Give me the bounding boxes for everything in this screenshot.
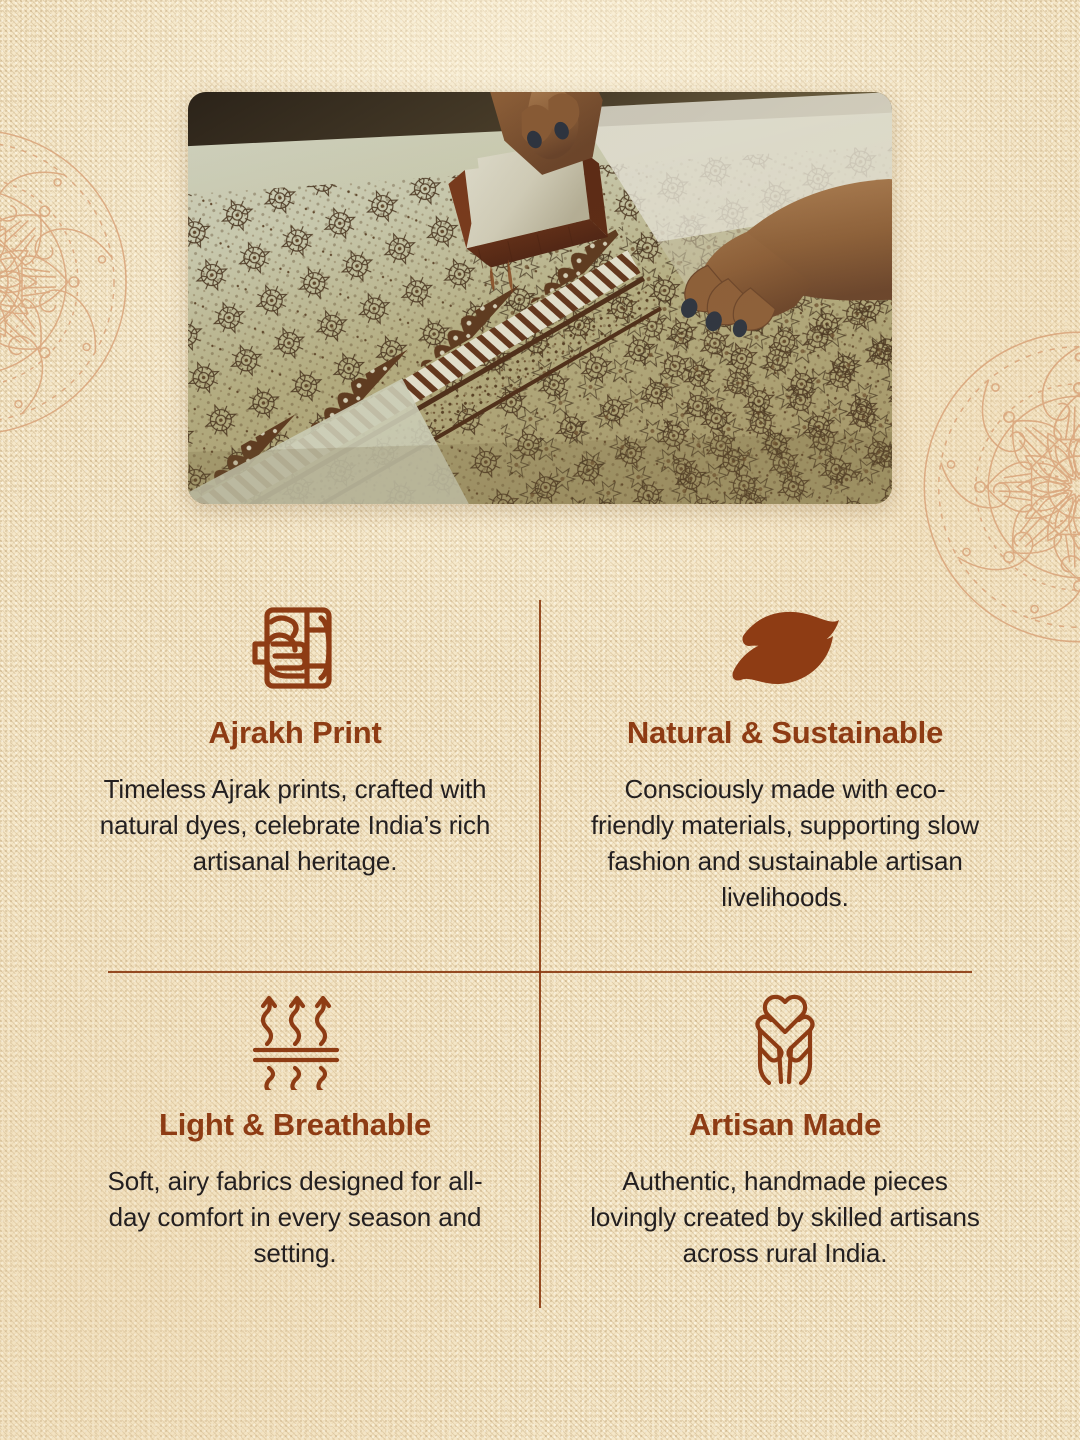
hero-image xyxy=(188,92,892,504)
feature-title: Ajrakh Print xyxy=(64,716,526,750)
hands-heart-icon xyxy=(554,988,1016,1092)
feature-body: Timeless Ajrak prints, crafted with natu… xyxy=(95,772,495,880)
poster-canvas: Ajrakh Print Timeless Ajrak prints, craf… xyxy=(0,0,1080,1440)
feature-card-light-breathable: Light & Breathable Soft, airy fabrics de… xyxy=(64,988,526,1272)
grid-horizontal-divider xyxy=(108,971,972,973)
grid-vertical-divider xyxy=(539,600,541,1308)
breathable-airflow-icon xyxy=(64,988,526,1092)
ajrakh-block-printing-photo xyxy=(188,92,892,504)
leaf-icon xyxy=(554,596,1016,700)
feature-body: Soft, airy fabrics designed for all-day … xyxy=(98,1164,492,1272)
mandala-left-icon xyxy=(0,122,134,442)
feature-grid: Ajrakh Print Timeless Ajrak prints, craf… xyxy=(64,596,1016,1312)
feature-card-natural-sustainable: Natural & Sustainable Consciously made w… xyxy=(554,596,1016,916)
feature-body: Authentic, handmade pieces lovingly crea… xyxy=(585,1164,985,1272)
block-print-hand-icon xyxy=(64,596,526,700)
feature-card-ajrakh-print: Ajrakh Print Timeless Ajrak prints, craf… xyxy=(64,596,526,880)
feature-card-artisan-made: Artisan Made Authentic, handmade pieces … xyxy=(554,988,1016,1272)
feature-body: Consciously made with eco-friendly mater… xyxy=(583,772,987,916)
feature-title: Artisan Made xyxy=(554,1108,1016,1142)
feature-title: Light & Breathable xyxy=(64,1108,526,1142)
feature-title: Natural & Sustainable xyxy=(554,716,1016,750)
